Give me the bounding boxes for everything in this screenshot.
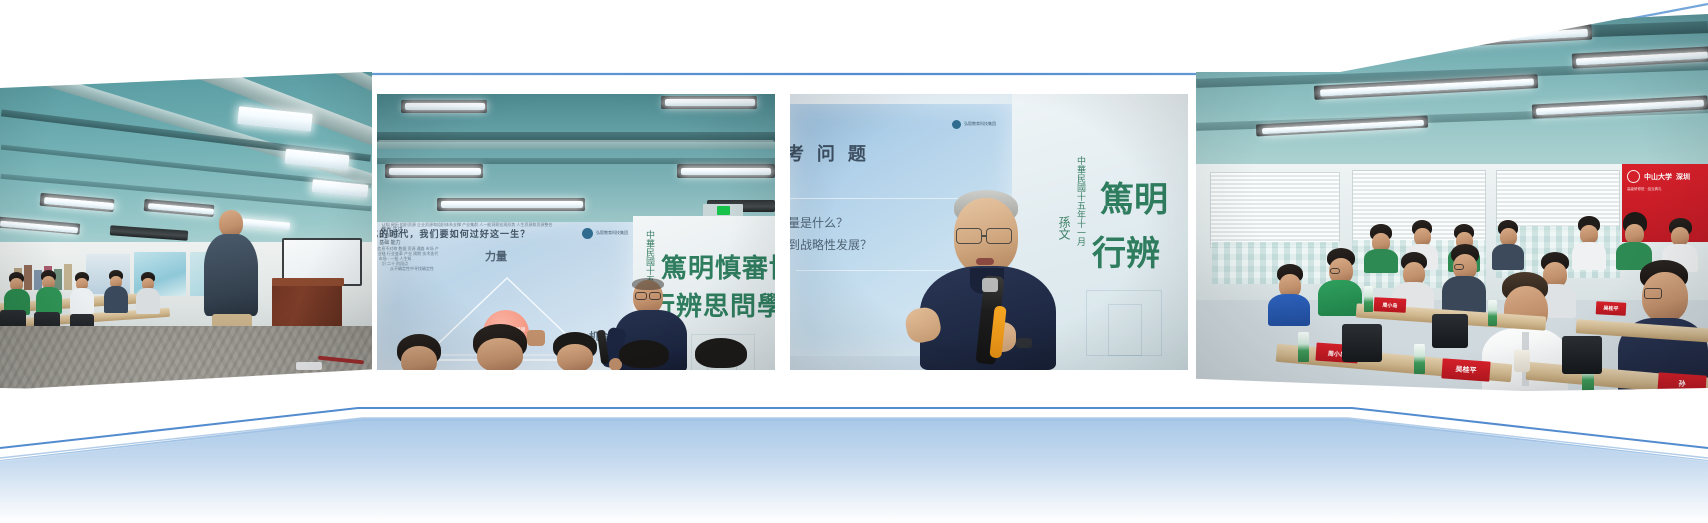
water-bottle	[1298, 332, 1309, 362]
slide-bullet-1: 量是什么？	[790, 214, 848, 231]
slide-right-label: 基础 能力	[377, 240, 403, 246]
speaker-with-slide: 化的时代，我们要如何过好这一生？ 弘毅教育科技集团 力量 认知 阅历 组织资源 …	[377, 94, 775, 370]
banner-small-text: 高级研修班 · 结业典礼	[1627, 187, 1662, 192]
water-bottle	[1414, 344, 1425, 374]
banner-subtitle: 深圳	[1676, 173, 1690, 180]
slide-top-label: 力量	[485, 248, 507, 264]
slide-logo-text: 弘毅教育科技集团	[596, 231, 628, 236]
water-bottle	[1488, 300, 1497, 326]
slide-bottom-axis: 从不确定性中寻找确定性	[377, 266, 447, 271]
slide-bullet-2: 到战略性发展？	[790, 236, 872, 253]
audience-seated: 中山大学 深圳 高级研修班 · 结业典礼	[1196, 14, 1708, 398]
photo-right: 中山大学 深圳 高级研修班 · 结业典礼	[1196, 14, 1708, 398]
calligraphy-line-2: 行辨	[1092, 226, 1160, 275]
nameplate: 孙	[1657, 372, 1706, 395]
slide-bottom-right-sub: 信息不对称 数据 资源 通路 市场 产业链 行业变革 产业 周期 技术迭代	[377, 246, 439, 256]
glasses-icon	[956, 228, 982, 244]
slide-title: 化的时代，我们要如何过好这一生？	[377, 227, 530, 240]
photo-center-b: 考 问 题 弘毅教育科技集团 量是什么？ 到战略性发展？ 中華民國十五年十一月 …	[790, 94, 1188, 370]
bottom-chevron-line-outer	[0, 408, 1708, 448]
slide-left-sub: 市场 · 一批 人生知识 二十 阶段点	[377, 256, 413, 266]
photo-banner-stage: 化的时代，我们要如何过好这一生？ 弘毅教育科技集团 力量 认知 阅历 组织资源 …	[0, 0, 1708, 523]
calligraphy-line-1: 篤明	[1100, 172, 1168, 221]
slide-logo-text: 弘毅教育科技集团	[964, 122, 996, 127]
calligraphy-side-left: 孫文	[1056, 216, 1073, 252]
nameplate: 吴桂平	[1441, 358, 1490, 381]
bottom-chevron-band	[0, 412, 1708, 523]
water-bottle	[1364, 286, 1373, 312]
banner-title: 中山大学	[1644, 173, 1672, 180]
photo-center-a: 化的时代，我们要如何过好这一生？ 弘毅教育科技集团 力量 认知 阅历 组织资源 …	[377, 94, 775, 370]
nameplate: 吴桂平	[1596, 301, 1627, 316]
slide-logo: 弘毅教育科技集团	[582, 228, 628, 239]
bottom-chevron-line-inner	[0, 420, 1708, 460]
nameplate: 周小岛	[1374, 297, 1407, 313]
photo-left	[0, 14, 372, 390]
university-emblem-icon	[1627, 170, 1640, 183]
slide-title: 考 问 题	[790, 140, 870, 166]
calligraphy-side-right: 中華民國十五年十一月	[1074, 156, 1087, 276]
paper-cup	[1514, 350, 1530, 372]
slide-logo: 弘毅教育科技集团	[952, 120, 996, 129]
speaker	[918, 190, 1058, 370]
classroom-wide-shot	[0, 14, 372, 390]
window-blind	[1210, 172, 1340, 248]
glasses-icon-right	[986, 228, 1012, 244]
speaker-portrait: 考 问 题 弘毅教育科技集团 量是什么？ 到战略性发展？ 中華民國十五年十一月 …	[790, 94, 1188, 370]
